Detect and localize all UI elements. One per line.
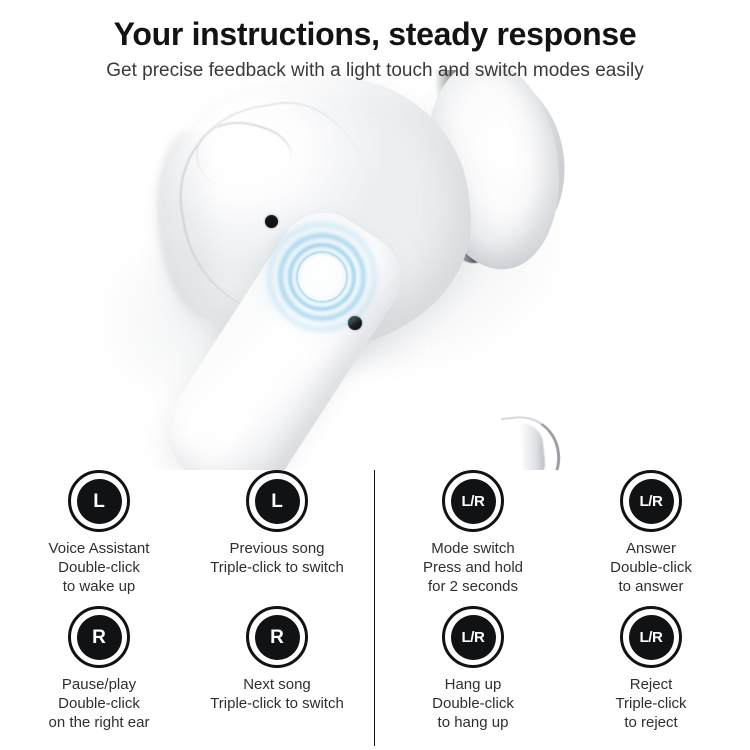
caption-line-2: Double-click bbox=[49, 694, 150, 713]
caption-line-3: for 2 seconds bbox=[423, 577, 523, 596]
caption-line-1: Previous song bbox=[210, 539, 344, 558]
badge-label: R bbox=[77, 615, 122, 660]
control-item-hang-up[interactable]: L/R Hang up Double-click to hang up bbox=[384, 606, 562, 732]
badge-label: L/R bbox=[629, 479, 674, 524]
control-item-previous-song[interactable]: L Previous song Triple-click to switch bbox=[188, 470, 366, 596]
controls-left-group: L Voice Assistant Double-click to wake u… bbox=[10, 470, 366, 732]
control-item-next-song[interactable]: R Next song Triple-click to switch bbox=[188, 606, 366, 732]
control-item-reject[interactable]: L/R Reject Triple-click to reject bbox=[562, 606, 740, 732]
page-subtitle: Get precise feedback with a light touch … bbox=[0, 58, 750, 84]
caption-line-2: Triple-click to switch bbox=[210, 694, 344, 713]
badge-both-earbuds: L/R bbox=[620, 606, 682, 668]
badge-label: L bbox=[255, 479, 300, 524]
caption-line-1: Pause/play bbox=[49, 675, 150, 694]
badge-both-earbuds: L/R bbox=[442, 606, 504, 668]
badge-right-earbud: R bbox=[246, 606, 308, 668]
control-item-answer[interactable]: L/R Answer Double-click to answer bbox=[562, 470, 740, 596]
badge-right-earbud: R bbox=[68, 606, 130, 668]
caption-line-1: Voice Assistant bbox=[49, 539, 150, 558]
caption-line-3: to hang up bbox=[432, 713, 514, 732]
badge-both-earbuds: L/R bbox=[620, 470, 682, 532]
product-hero-image bbox=[0, 70, 750, 470]
badge-left-earbud: L bbox=[68, 470, 130, 532]
touch-sensor-center bbox=[298, 253, 346, 301]
controls-right-group: L/R Mode switch Press and hold for 2 sec… bbox=[384, 470, 740, 732]
caption-line-1: Next song bbox=[210, 675, 344, 694]
control-caption: Pause/play Double-click on the right ear bbox=[49, 675, 150, 732]
header: Your instructions, steady response Get p… bbox=[0, 0, 750, 84]
caption-line-1: Answer bbox=[610, 539, 692, 558]
section-divider bbox=[374, 470, 375, 746]
caption-line-1: Reject bbox=[615, 675, 686, 694]
page-title: Your instructions, steady response bbox=[0, 14, 750, 54]
caption-line-2: Triple-click to switch bbox=[210, 558, 344, 577]
caption-line-2: Double-click bbox=[49, 558, 150, 577]
badge-label: L/R bbox=[451, 479, 496, 524]
caption-line-2: Press and hold bbox=[423, 558, 523, 577]
caption-line-2: Double-click bbox=[610, 558, 692, 577]
caption-line-1: Mode switch bbox=[423, 539, 523, 558]
control-caption: Answer Double-click to answer bbox=[610, 539, 692, 596]
badge-both-earbuds: L/R bbox=[442, 470, 504, 532]
badge-label: R bbox=[255, 615, 300, 660]
badge-label: L/R bbox=[451, 615, 496, 660]
control-caption: Mode switch Press and hold for 2 seconds bbox=[423, 539, 523, 596]
control-item-mode-switch[interactable]: L/R Mode switch Press and hold for 2 sec… bbox=[384, 470, 562, 596]
caption-line-3: to wake up bbox=[49, 577, 150, 596]
caption-line-2: Triple-click bbox=[615, 694, 686, 713]
control-caption: Hang up Double-click to hang up bbox=[432, 675, 514, 732]
caption-line-3: to reject bbox=[615, 713, 686, 732]
control-caption: Previous song Triple-click to switch bbox=[210, 539, 344, 577]
caption-line-1: Hang up bbox=[432, 675, 514, 694]
control-item-voice-assistant[interactable]: L Voice Assistant Double-click to wake u… bbox=[10, 470, 188, 596]
control-caption: Voice Assistant Double-click to wake up bbox=[49, 539, 150, 596]
touch-control-zone[interactable] bbox=[268, 223, 376, 331]
badge-left-earbud: L bbox=[246, 470, 308, 532]
control-caption: Next song Triple-click to switch bbox=[210, 675, 344, 713]
badge-label: L/R bbox=[629, 615, 674, 660]
badge-label: L bbox=[77, 479, 122, 524]
caption-line-2: Double-click bbox=[432, 694, 514, 713]
product-shadow-lower bbox=[300, 462, 600, 470]
caption-line-3: to answer bbox=[610, 577, 692, 596]
infographic-page: Your instructions, steady response Get p… bbox=[0, 0, 750, 750]
control-item-pause-play[interactable]: R Pause/play Double-click on the right e… bbox=[10, 606, 188, 732]
control-caption: Reject Triple-click to reject bbox=[615, 675, 686, 732]
caption-line-3: on the right ear bbox=[49, 713, 150, 732]
